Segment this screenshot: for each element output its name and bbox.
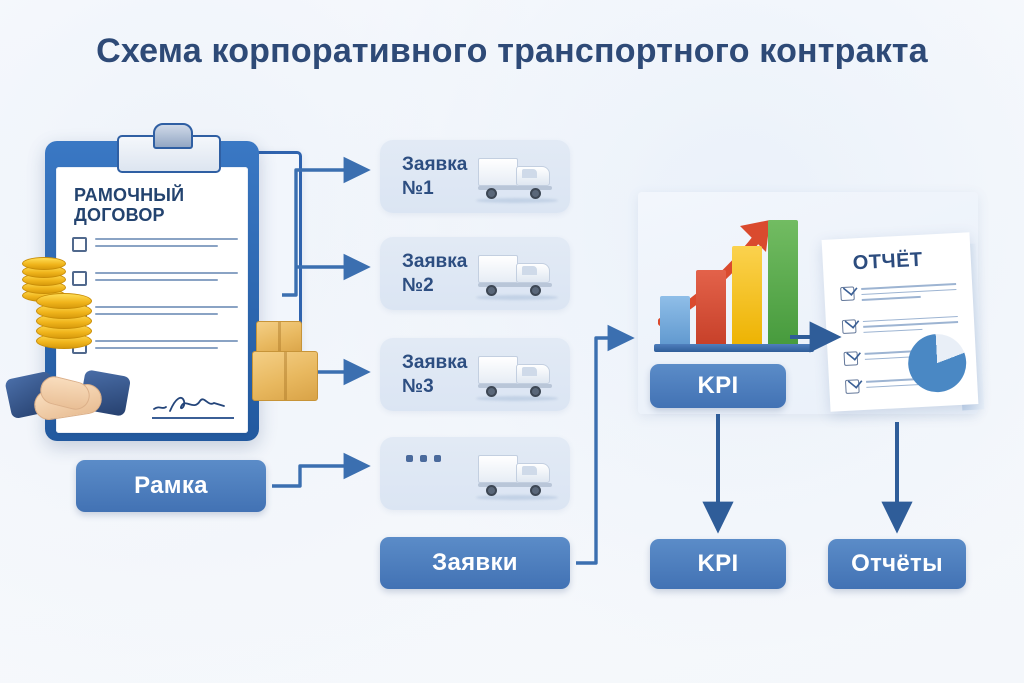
contract-title: РАМОЧНЫЙ ДОГОВОР (74, 185, 236, 225)
report-title: ОТЧЁТ (852, 249, 923, 276)
cardboard-boxes-icon (252, 321, 334, 417)
signature-icon (152, 393, 234, 419)
diagram-canvas: Схема корпоративного транспортного контр… (0, 0, 1024, 683)
chart-baseline (654, 344, 814, 352)
contract-title-line2: ДОГОВОР (74, 205, 236, 225)
kpi-button[interactable]: KPI (650, 539, 786, 589)
handshake-icon (8, 351, 128, 443)
truck-icon (476, 453, 562, 497)
checkmark-icon (845, 379, 860, 394)
requests-button[interactable]: Заявки (380, 537, 570, 589)
coins-icon (8, 255, 92, 355)
request-card-1[interactable]: Заявка №1 (380, 140, 570, 213)
contract-checklist-row (72, 237, 238, 252)
contract-title-line1: РАМОЧНЫЙ (74, 185, 236, 205)
truck-icon (476, 354, 562, 398)
report-document: ОТЧЁТ (822, 232, 979, 412)
request-card-3[interactable]: Заявка №3 (380, 338, 570, 411)
contract-checklist-row (72, 271, 238, 286)
frame-button[interactable]: Рамка (76, 460, 266, 512)
kpi-panel-label-button[interactable]: KPI (650, 364, 786, 408)
kpi-bar-chart (652, 206, 812, 366)
report-checklist-row (840, 281, 957, 306)
bar-4 (768, 220, 798, 348)
reports-button[interactable]: Отчёты (828, 539, 966, 589)
request-card-more[interactable] (380, 437, 570, 510)
contract-checklist-row (72, 305, 238, 320)
clipboard-clamp-icon (117, 135, 221, 173)
checkmark-icon (842, 319, 857, 334)
bar-3 (732, 246, 762, 348)
checkbox-icon (72, 237, 87, 252)
checkmark-icon (840, 286, 855, 301)
page-title: Схема корпоративного транспортного контр… (0, 32, 1024, 71)
request-card-2[interactable]: Заявка №2 (380, 237, 570, 310)
checkmark-icon (843, 351, 858, 366)
ellipsis-icon (406, 455, 441, 462)
truck-icon (476, 156, 562, 200)
bar-2 (696, 270, 726, 348)
truck-icon (476, 253, 562, 297)
bar-1 (660, 296, 690, 348)
framework-contract-illustration: РАМОЧНЫЙ ДОГОВОР (8, 133, 308, 453)
